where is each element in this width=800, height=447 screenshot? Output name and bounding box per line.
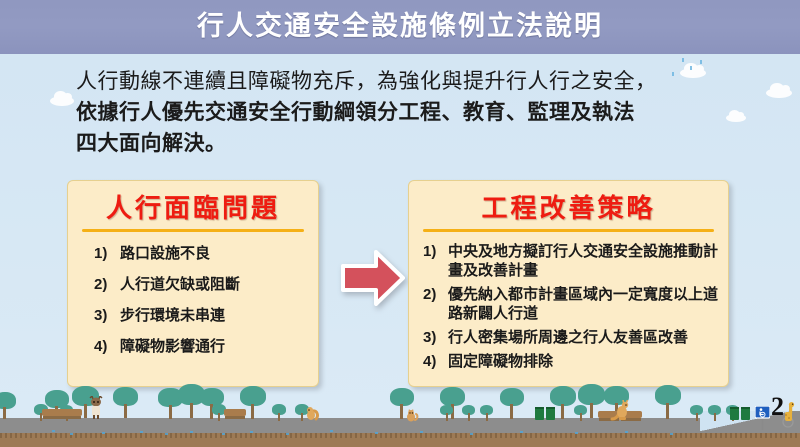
water-drop-icon: [670, 433, 673, 435]
list-item-number: 2): [94, 275, 120, 294]
bench-icon: [224, 409, 246, 416]
list-item-label: 步行環境未串連: [120, 306, 310, 325]
list-item: 3) 行人密集場所周邊之行人友善區改善: [423, 328, 718, 347]
lead-line-2: 依據行人優先交通安全行動綱領分工程、教育、監理及執法: [76, 97, 736, 128]
tree-icon: [690, 405, 703, 421]
giraffe-in-wheelchair-icon: [780, 402, 798, 428]
lead-line-1: 人行動線不連續且障礙物充斥，為強化與提升行人行之安全，: [76, 66, 736, 97]
lead-line-3: 四大面向解決。: [76, 128, 736, 159]
wheelchair-accessible-icon: [755, 406, 770, 430]
cloud-icon: [766, 88, 792, 98]
panel-strategies-list: 1) 中央及地方擬訂行人交通安全設施推動計畫及改善計畫 2) 優先納入都市計畫區…: [409, 232, 728, 371]
water-drop-icon: [102, 432, 105, 434]
page-title: 行人交通安全設施條例立法說明: [0, 6, 800, 46]
list-item-label: 人行道欠缺或阻斷: [120, 275, 310, 294]
bench-icon: [60, 409, 82, 416]
decorative-street-scene: [0, 400, 800, 447]
list-item-number: 1): [423, 242, 448, 261]
tree-icon: [440, 405, 453, 421]
list-item-label: 優先納入都市計畫區域內一定寬度以上道路新闢人行道: [448, 285, 718, 323]
water-drop-icon: [70, 433, 73, 435]
water-drop-icon: [520, 431, 523, 433]
water-drop-icon: [375, 432, 378, 434]
panel-strategies: 工程改善策略 1) 中央及地方擬訂行人交通安全設施推動計畫及改善計畫 2) 優先…: [408, 180, 729, 387]
water-drop-icon: [625, 431, 628, 433]
panel-problems-list: 1) 路口設施不良 2) 人行道欠缺或阻斷 3) 步行環境未串連 4) 障礙物影…: [68, 232, 318, 356]
list-item-number: 3): [94, 306, 120, 325]
list-item: 1) 中央及地方擬訂行人交通安全設施推動計畫及改善計畫: [423, 242, 718, 280]
list-item-number: 4): [94, 337, 120, 356]
water-drop-icon: [330, 430, 333, 432]
lead-paragraph: 人行動線不連續且障礙物充斥，為強化與提升行人行之安全， 依據行人優先交通安全行動…: [76, 66, 736, 159]
water-drop-icon: [575, 432, 578, 434]
tree-icon: [113, 387, 138, 420]
list-item: 2) 優先納入都市計畫區域內一定寬度以上道路新闢人行道: [423, 285, 718, 323]
arrow-right-icon: [340, 247, 406, 309]
list-item-number: 3): [423, 328, 448, 347]
raindrop-icon: [700, 60, 702, 64]
tree-icon: [500, 388, 524, 420]
list-item: 1) 路口設施不良: [94, 244, 310, 263]
tree-icon: [272, 404, 286, 421]
tree-icon: [655, 385, 681, 420]
list-item: 4) 固定障礙物排除: [423, 352, 718, 371]
list-item-number: 2): [423, 285, 448, 304]
list-item-label: 障礙物影響通行: [120, 337, 310, 356]
list-item-number: 4): [423, 352, 448, 371]
water-drop-icon: [190, 431, 193, 433]
trash-bin-icon: [535, 407, 544, 420]
tree-icon: [462, 405, 475, 421]
tree-icon: [480, 405, 493, 421]
raindrop-icon: [682, 58, 684, 62]
kangaroo-icon: [610, 400, 632, 422]
water-drop-icon: [250, 431, 253, 433]
tree-icon: [708, 405, 721, 421]
squirrel-icon: [305, 406, 319, 421]
dirt-texture: [0, 433, 800, 438]
water-drop-icon: [470, 433, 473, 435]
tree-icon: [0, 392, 16, 420]
water-drop-icon: [140, 431, 143, 433]
list-item: 2) 人行道欠缺或阻斷: [94, 275, 310, 294]
list-item-label: 固定障礙物排除: [448, 352, 718, 371]
cat-icon: [405, 409, 419, 422]
list-item-label: 中央及地方擬訂行人交通安全設施推動計畫及改善計畫: [448, 242, 718, 280]
panel-strategies-title: 工程改善策略: [409, 191, 728, 225]
list-item-label: 行人密集場所周邊之行人友善區改善: [448, 328, 718, 347]
water-drop-icon: [420, 431, 423, 433]
trash-bin-icon: [546, 407, 555, 420]
water-drop-icon: [52, 430, 55, 432]
list-item: 3) 步行環境未串連: [94, 306, 310, 325]
list-item-number: 1): [94, 244, 120, 263]
trash-bin-icon: [741, 407, 750, 420]
list-item-label: 路口設施不良: [120, 244, 310, 263]
slide: 行人交通安全設施條例立法說明 人行動線不連續且障礙物充斥，為強化與提升行人行之安…: [0, 0, 800, 447]
trash-bin-icon: [730, 407, 739, 420]
tree-icon: [574, 405, 587, 421]
list-item: 4) 障礙物影響通行: [94, 337, 310, 356]
water-drop-icon: [165, 433, 168, 435]
road-surface: [0, 418, 800, 433]
cloud-icon: [50, 96, 74, 106]
header-bar: 行人交通安全設施條例立法說明: [0, 0, 800, 54]
water-drop-icon: [286, 433, 289, 435]
panel-problems-title: 人行面臨問題: [68, 191, 318, 225]
panel-problems: 人行面臨問題 1) 路口設施不良 2) 人行道欠缺或阻斷 3) 步行環境未串連 …: [67, 180, 319, 387]
deer-character-icon: [86, 396, 106, 420]
water-drop-icon: [222, 433, 225, 435]
